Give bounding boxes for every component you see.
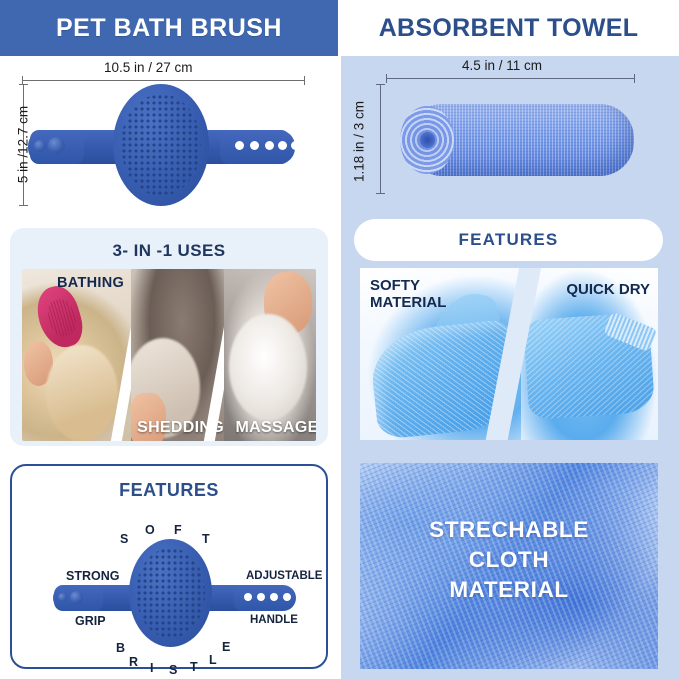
stretch-line-3: MATERIAL xyxy=(449,577,568,602)
brush-bristle-texture xyxy=(121,94,202,197)
features-handle-hole-1 xyxy=(244,593,252,601)
towel-features-pill: FEATURES xyxy=(354,219,663,261)
stretch-line-1: STRECHABLE xyxy=(429,517,589,542)
towel-duo-photos: SOFTY MATERIAL QUICK DRY xyxy=(360,268,658,440)
handle-hole-3 xyxy=(265,141,274,150)
use-label-massage: MASSAGE xyxy=(236,419,316,437)
uses-photo-strip: BATHING SHEDDING MASSAGE xyxy=(22,269,316,441)
towel-features-title: FEATURES xyxy=(459,230,559,250)
features-brush-oval-pad xyxy=(129,539,212,647)
use-label-bathing: BATHING xyxy=(57,275,124,291)
towel-height-label: 1.18 in / 3 cm xyxy=(352,87,367,197)
towel-height-tick-bottom xyxy=(376,193,385,194)
brush-features-card: FEATURES S O F T B R I S T L E STRONG GR… xyxy=(10,464,328,669)
towel-label-softy-material: SOFTY MATERIAL xyxy=(370,278,446,312)
features-grip-nub-large xyxy=(70,591,83,604)
use-photo-bathing: BATHING xyxy=(22,269,131,441)
softy-line-2: MATERIAL xyxy=(370,294,446,311)
brush-hero: 10.5 in / 27 cm 5 in /12.7 cm xyxy=(0,56,338,224)
features-handle-hole-2 xyxy=(257,593,265,601)
towel-roll-core xyxy=(420,132,435,148)
brush-grip-nub-large xyxy=(48,137,65,154)
pane-separator-2 xyxy=(202,269,224,441)
dog-head-massage xyxy=(229,314,307,421)
left-panel-header: PET BATH BRUSH xyxy=(0,0,338,56)
features-handle-hole-3 xyxy=(270,593,278,601)
brush-illustration xyxy=(0,56,338,224)
use-photo-massage: MASSAGE xyxy=(224,269,316,441)
towel-width-label: 4.5 in / 11 cm xyxy=(462,58,542,73)
brush-oval-pad xyxy=(113,84,209,206)
uses-card-title: 3- IN -1 USES xyxy=(22,241,316,261)
towel-width-tick-left xyxy=(386,74,387,83)
use-photo-shedding: SHEDDING xyxy=(131,269,223,441)
towel-height-tick-top xyxy=(376,84,385,85)
features-handle-hole-4 xyxy=(283,593,291,601)
stretchable-cloth-block: STRECHABLE CLOTH MATERIAL xyxy=(360,463,658,669)
features-grip-nub-small xyxy=(58,593,67,602)
towel-width-tick-right xyxy=(634,74,635,83)
right-panel: ABSORBENT TOWEL 4.5 in / 11 cm 1.18 in /… xyxy=(338,0,679,679)
handle-hole-2 xyxy=(250,141,259,150)
softy-line-1: SOFTY xyxy=(370,277,420,294)
handle-hole-4 xyxy=(278,141,287,150)
panel-divider xyxy=(338,0,341,679)
towel-label-quick-dry: QUICK DRY xyxy=(566,282,650,299)
stretch-line-2: CLOTH xyxy=(469,547,550,572)
stretchable-cloth-text: STRECHABLE CLOTH MATERIAL xyxy=(360,515,658,605)
towel-hero: 4.5 in / 11 cm 1.18 in / 3 cm xyxy=(338,56,679,214)
towel-height-dimension-line xyxy=(380,84,381,194)
page-title-absorbent-towel: ABSORBENT TOWEL xyxy=(379,14,639,43)
page-title-pet-bath-brush: PET BATH BRUSH xyxy=(56,14,282,43)
handle-hole-5 xyxy=(291,141,300,150)
dog-head-bathing xyxy=(46,345,118,441)
brush-features-illustration xyxy=(12,466,330,671)
right-panel-header: ABSORBENT TOWEL xyxy=(338,0,679,56)
three-in-one-uses-card: 3- IN -1 USES BATHING SHEDDING xyxy=(10,228,328,446)
product-infographic: PET BATH BRUSH 10.5 in / 27 cm 5 in /12.… xyxy=(0,0,679,679)
brush-grip-nub-small xyxy=(34,140,46,152)
handle-hole-1 xyxy=(235,141,244,150)
left-panel: PET BATH BRUSH 10.5 in / 27 cm 5 in /12.… xyxy=(0,0,338,679)
towel-width-dimension-line xyxy=(386,78,635,79)
features-bristle-texture xyxy=(136,548,206,639)
